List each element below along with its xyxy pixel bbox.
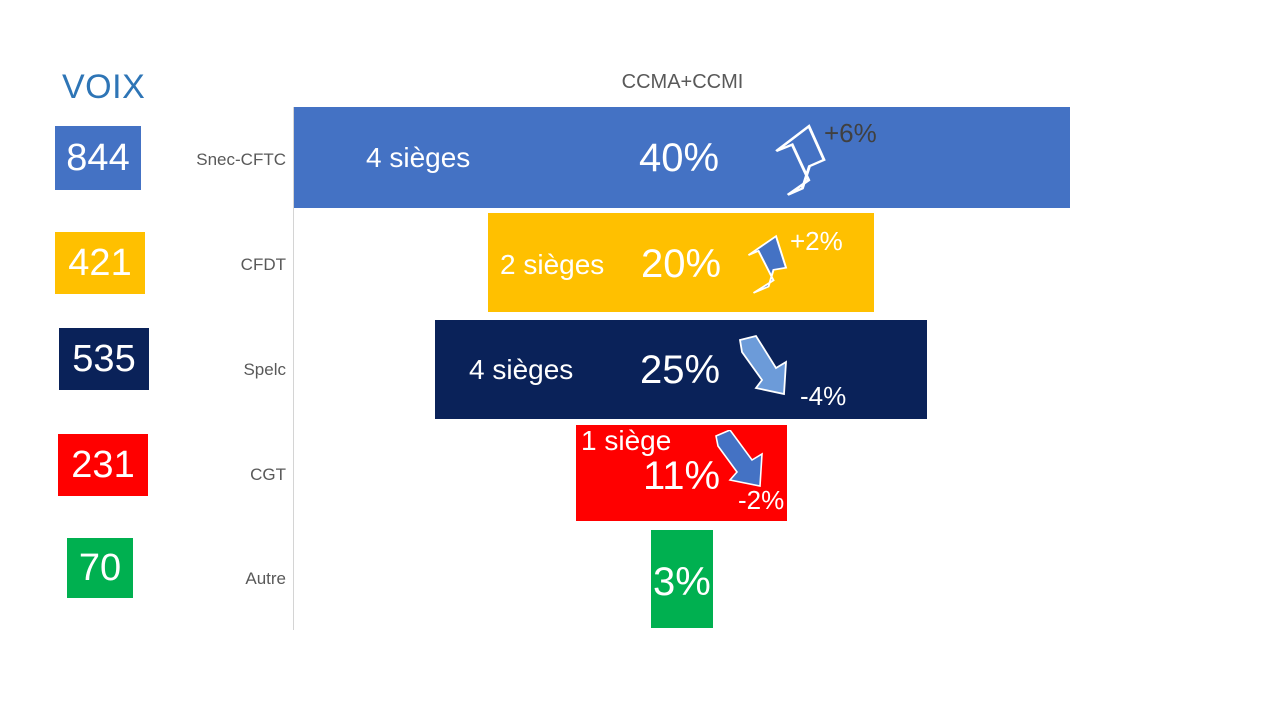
- bar-seats-snec-cftc: 4 sièges: [366, 144, 470, 172]
- category-label-autre: Autre: [130, 570, 286, 587]
- voix-title: VOIX: [62, 70, 145, 104]
- category-label-cgt: CGT: [130, 466, 286, 483]
- legend-value-autre: 70: [79, 549, 121, 587]
- bar-seats-cgt: 1 siège: [581, 427, 671, 455]
- bar-delta-cgt: -2%: [738, 487, 784, 513]
- bar-percent-cgt: 11%: [643, 456, 720, 496]
- legend-value-snec-cftc: 844: [66, 139, 129, 177]
- legend-value-cgt: 231: [71, 446, 134, 484]
- bar-seats-cfdt: 2 sièges: [500, 251, 604, 279]
- bar-delta-cfdt: +2%: [790, 228, 843, 254]
- chart-title: CCMA+CCMI: [295, 72, 1070, 92]
- category-label-snec-cftc: Snec-CFTC: [130, 151, 286, 168]
- legend-box-spelc: 535: [59, 328, 149, 390]
- bar-seats-spelc: 4 sièges: [469, 356, 573, 384]
- legend-value-spelc: 535: [72, 340, 135, 378]
- legend-box-cgt: 231: [58, 434, 148, 496]
- legend-box-snec-cftc: 844: [55, 126, 141, 190]
- bar-percent-autre: 3%: [653, 562, 711, 602]
- legend-value-cfdt: 421: [68, 244, 131, 282]
- category-label-spelc: Spelc: [130, 361, 286, 378]
- bar-percent-spelc: 25%: [640, 350, 720, 390]
- bar-delta-spelc: -4%: [800, 383, 846, 409]
- legend-box-autre: 70: [67, 538, 133, 598]
- slide-canvas: VOIX 844 Snec-CFTC 421 CFDT 535 Spelc 23…: [0, 0, 1280, 720]
- category-label-cfdt: CFDT: [130, 256, 286, 273]
- bar-percent-cfdt: 20%: [641, 244, 721, 284]
- bar-percent-snec-cftc: 40%: [639, 138, 719, 178]
- bar-delta-snec-cftc: +6%: [824, 120, 877, 146]
